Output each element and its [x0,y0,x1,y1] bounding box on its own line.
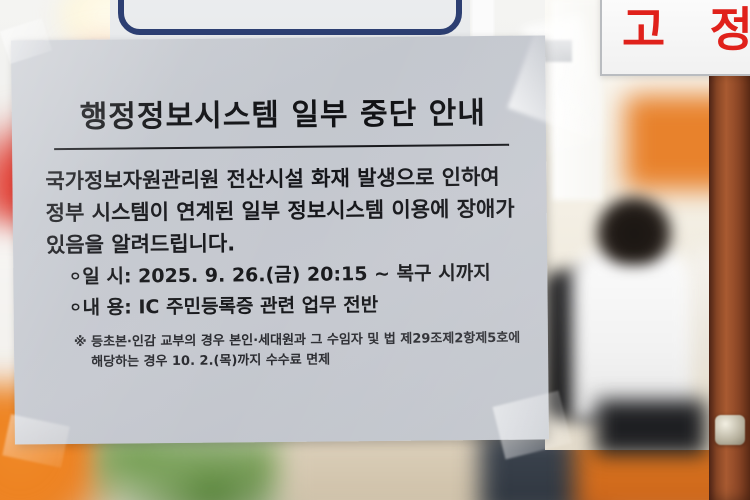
notice-footnote: ※ 등초본·인감 교부의 경우 본인·세대원과 그 수임자 및 법 제29조제2… [74,329,536,373]
bullet-value-scope: IC 주민등록증 관련 업무 전반 [138,294,378,318]
bullet-marker-icon: ㅇ [70,301,82,316]
footnote-line-1: 등초본·인감 교부의 경우 본인·세대원과 그 수임자 및 법 제29조제2항제… [91,331,520,350]
notice-bullet-list: ㅇ일 시: 2025. 9. 26.(금) 20:15 ~ 복구 시까지 ㅇ내 … [69,258,540,325]
notice-paragraph: 국가정보자원관리원 전산시설 화재 발생으로 인하여 정부 시스템이 연계된 일… [45,161,538,262]
footnote-line-2: 해당하는 경우 10. 2.(목)까지 수수료 면제 [91,349,536,373]
red-sign-label: 고 정 [622,0,750,62]
bullet-item-scope: ㅇ내 용: IC 주민등록증 관련 업무 전반 [69,289,539,325]
bullet-item-datetime: ㅇ일 시: 2025. 9. 26.(금) 20:15 ~ 복구 시까지 [69,258,539,294]
footnote-marker-icon: ※ [74,335,87,350]
paragraph-line-3: 있음을 알려드립니다. [46,225,538,262]
bullet-value-datetime: 2025. 9. 26.(금) 20:15 ~ 복구 시까지 [138,262,491,287]
upper-poster-navy-border [118,0,462,35]
notice-title-underline [54,144,509,150]
bullet-marker-icon: ㅇ [69,270,81,285]
background-person-head [595,195,673,265]
notice-poster: 행정정보시스템 일부 중단 안내 국가정보자원관리원 전산시설 화재 발생으로 … [11,35,549,444]
paragraph-line-1: 국가정보자원관리원 전산시설 화재 발생으로 인하여 [45,161,537,198]
door-lock-icon [715,415,745,445]
bullet-label-scope: 내 용: [83,296,132,318]
background-person-body [572,250,692,420]
notice-title: 행정정보시스템 일부 중단 안내 [52,96,514,136]
red-fixed-sign: 고 정 [600,0,750,76]
photo-scene: 고 정 행정정보시스템 일부 중단 안내 국가정보자원관리원 전산시설 화재 발… [0,0,750,500]
paragraph-line-2: 정부 시스템이 연계된 일부 정보시스템 이용에 장애가 [46,193,538,230]
bullet-label-datetime: 일 시: [82,265,131,287]
background-person-lower [596,400,706,455]
